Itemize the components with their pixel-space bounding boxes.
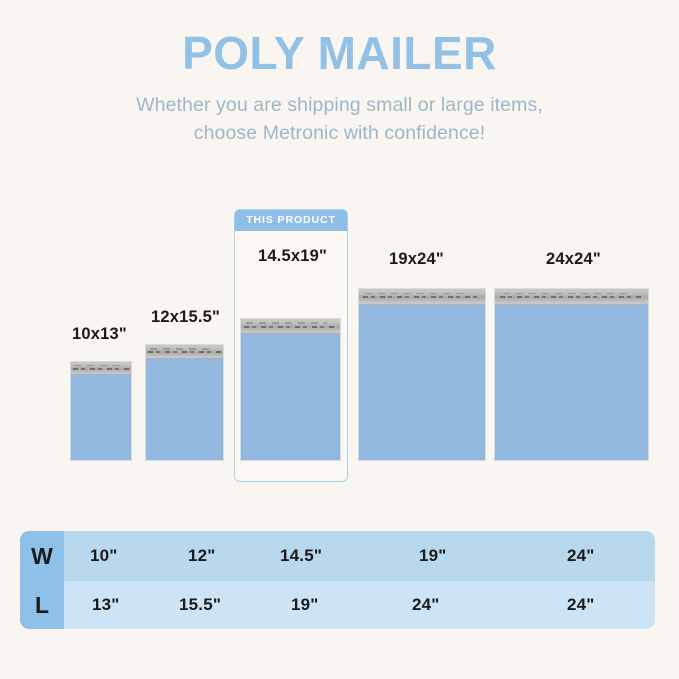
- table-cell-length-3: 19": [291, 595, 319, 615]
- mailer-bag-24x24: [494, 288, 649, 461]
- mailer-label-12x15-5: 12x15.5": [151, 308, 220, 327]
- mailer-bag-19x24: [358, 288, 486, 461]
- mailer-label-10x13: 10x13": [72, 325, 127, 344]
- table-row-length: L 13" 15.5" 19" 24" 24": [20, 581, 655, 629]
- table-cell-length-4: 24": [412, 595, 440, 615]
- flap-print-upper-12x15-5: [150, 348, 213, 350]
- table-cell-width-5: 24": [567, 546, 595, 566]
- mailer-bag-10x13: [70, 361, 132, 461]
- mailer-item-24x24: 24x24": [494, 250, 649, 461]
- mailer-label-19x24: 19x24": [389, 250, 444, 269]
- mailer-label-14-5x19: 14.5x19": [258, 247, 327, 266]
- mailer-flap-14-5x19: [241, 319, 340, 334]
- mailer-flap-10x13: [71, 362, 131, 375]
- table-cell-length-2: 15.5": [179, 595, 221, 615]
- flap-print-upper-24x24: [503, 293, 628, 295]
- table-header-length: L: [20, 581, 64, 629]
- table-cell-width-2: 12": [188, 546, 216, 566]
- mailer-flap-24x24: [495, 289, 648, 305]
- flap-print-upper-14-5x19: [246, 322, 327, 324]
- table-cell-width-4: 19": [419, 546, 447, 566]
- flap-print-14-5x19: [244, 326, 337, 328]
- mailer-item-12x15-5: 12x15.5": [145, 308, 224, 461]
- mailer-item-14-5x19: 14.5x19": [240, 247, 341, 461]
- mailer-flap-19x24: [359, 289, 485, 305]
- mailer-size-lineup: 10x13" 12x15.5" THIS PRODUCT 14.5x19": [0, 0, 679, 500]
- flap-print-12x15-5: [148, 351, 220, 353]
- table-cells-length: 13" 15.5" 19" 24" 24": [64, 581, 655, 629]
- mailer-item-19x24: 19x24": [358, 250, 486, 461]
- table-cell-width-3: 14.5": [280, 546, 322, 566]
- table-row-width: W 10" 12" 14.5" 19" 24": [20, 531, 655, 581]
- table-cell-length-1: 13": [92, 595, 120, 615]
- mailer-label-24x24: 24x24": [546, 250, 601, 269]
- flap-print-24x24: [500, 296, 644, 298]
- this-product-badge: THIS PRODUCT: [235, 210, 347, 231]
- flap-seam-19x24: [359, 304, 485, 305]
- mailer-item-10x13: 10x13": [70, 325, 132, 461]
- flap-seam-10x13: [71, 374, 131, 375]
- mailer-bag-12x15-5: [145, 344, 224, 461]
- flap-print-10x13: [73, 368, 129, 370]
- flap-print-19x24: [363, 296, 481, 298]
- flap-seam-14-5x19: [241, 333, 340, 334]
- mailer-flap-12x15-5: [146, 345, 223, 359]
- mailer-bag-14-5x19: [240, 318, 341, 461]
- flap-seam-24x24: [495, 304, 648, 305]
- dimensions-table: W 10" 12" 14.5" 19" 24" L 13" 15.5" 19" …: [20, 531, 655, 629]
- table-cell-width-1: 10": [90, 546, 118, 566]
- flap-print-upper-10x13: [74, 365, 123, 367]
- table-cells-width: 10" 12" 14.5" 19" 24": [64, 531, 655, 581]
- flap-seam-12x15-5: [146, 358, 223, 359]
- table-cell-length-5: 24": [567, 595, 595, 615]
- table-header-width: W: [20, 531, 64, 581]
- flap-print-upper-19x24: [365, 293, 468, 295]
